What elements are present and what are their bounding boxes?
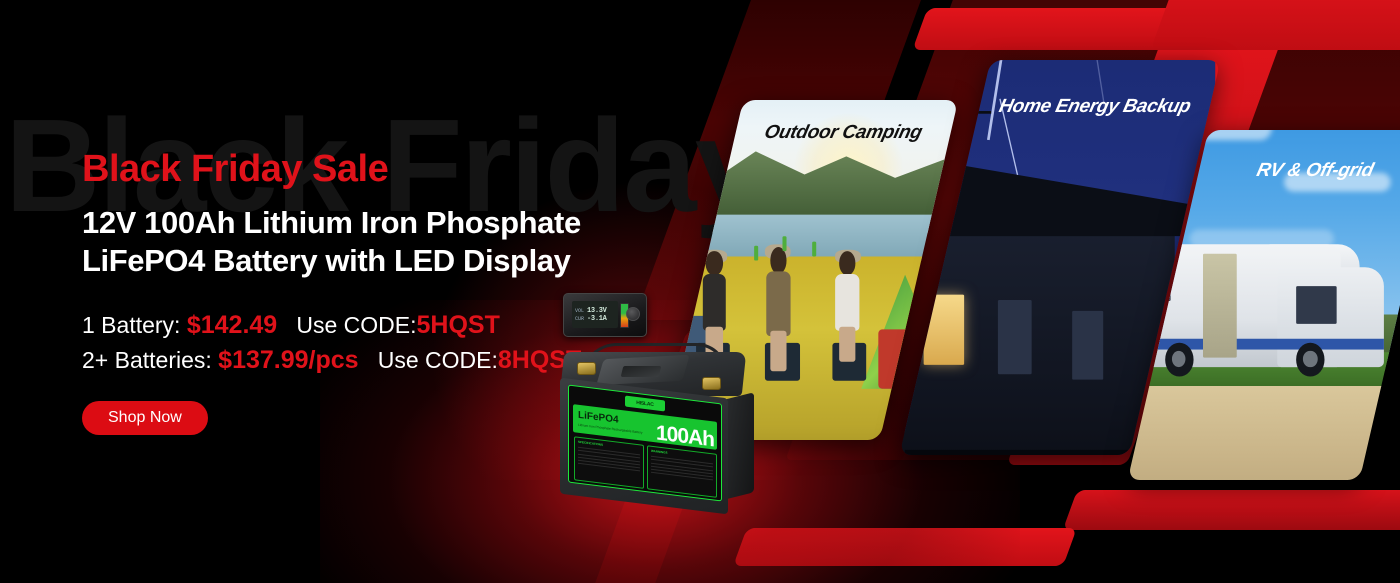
offer-price: $142.49 [187,311,277,339]
red-diagonal-bar [1063,490,1400,530]
offer-qty-label: 1 Battery: [82,312,180,338]
offer-row-1: 1 Battery: $142.49 Use CODE:5HQST [82,308,642,344]
label-spec-box-right: WARNINGS [647,445,717,498]
label-capacity: 100Ah [656,422,714,450]
rv-wheel [1165,343,1193,376]
window [998,300,1032,375]
card-title-home-energy-backup: Home Energy Backup [977,96,1212,118]
headline-line-2: LiFePO4 Battery with LED Display [82,242,642,280]
red-diagonal-bar [1150,0,1400,50]
bottle [753,246,757,261]
legs [839,327,856,362]
torso [766,272,790,336]
head [706,252,723,276]
label-chemistry-block: LiFePO4 Lithium Iron Phosphate Rechargea… [573,410,643,434]
led-current-value: -3.1A [587,315,607,323]
headline-line-1: 12V 100Ah Lithium Iron Phosphate [82,204,642,242]
wheel-hub [1172,351,1186,368]
battery-terminal-negative [702,377,721,390]
bottle [782,237,786,252]
led-display-module: VOL 13.3V CUR -3.1A [563,293,647,337]
sandy-ground [1128,385,1400,480]
camper-person [829,252,867,362]
rv-wheel [1297,343,1325,376]
brand-logo: HISLAC [625,396,665,412]
torso [836,274,860,331]
led-voltage-label: VOL [575,308,584,314]
legs [770,331,787,371]
head [839,252,856,276]
battery-product-image: HISLAC LiFePO4 Lithium Iron Phosphate Re… [548,352,758,517]
led-current-label: CUR [575,316,584,322]
led-current-line: CUR -3.1A [575,315,615,323]
label-spec-box-left: SPECIFICATIONS [574,436,644,489]
battery-side-panel [724,392,754,499]
offer-code-label: Use CODE: [378,347,498,373]
offer-price: $137.99/pcs [218,346,358,374]
bottle [812,241,816,256]
power-knob-icon [626,307,640,321]
led-screen: VOL 13.3V CUR -3.1A [572,301,618,328]
led-voltage-line: VOL 13.3V [575,307,615,315]
offer-code-label: Use CODE: [296,312,416,338]
page-title: 12V 100Ah Lithium Iron Phosphate LiFePO4… [82,204,642,280]
rv-door [1203,253,1237,357]
shop-now-button[interactable]: Shop Now [82,401,208,435]
offer-qty-label: 2+ Batteries: [82,347,212,373]
battery-top-plate [621,366,662,377]
promo-eyebrow: Black Friday Sale [82,150,642,190]
battery-terminal-positive [577,362,596,375]
torso [702,274,726,331]
rv-stripe [1128,338,1385,350]
battery-label: HISLAC LiFePO4 Lithium Iron Phosphate Re… [568,385,722,502]
camper-person [759,247,797,371]
card-title-outdoor-camping: Outdoor Camping [733,122,953,144]
head [770,247,787,274]
offer-code: 5HQST [417,311,500,339]
window [1072,311,1103,380]
led-voltage-value: 13.3V [587,307,607,315]
wheel-hub [1304,351,1318,368]
card-title-rv-offgrid: RV & Off-grid [1196,160,1400,182]
rv-windshield [1297,286,1338,324]
red-diagonal-bar [733,528,1077,566]
black-friday-promo-banner: Black Friday Black Friday Sale 12V 100Ah… [0,0,1400,583]
